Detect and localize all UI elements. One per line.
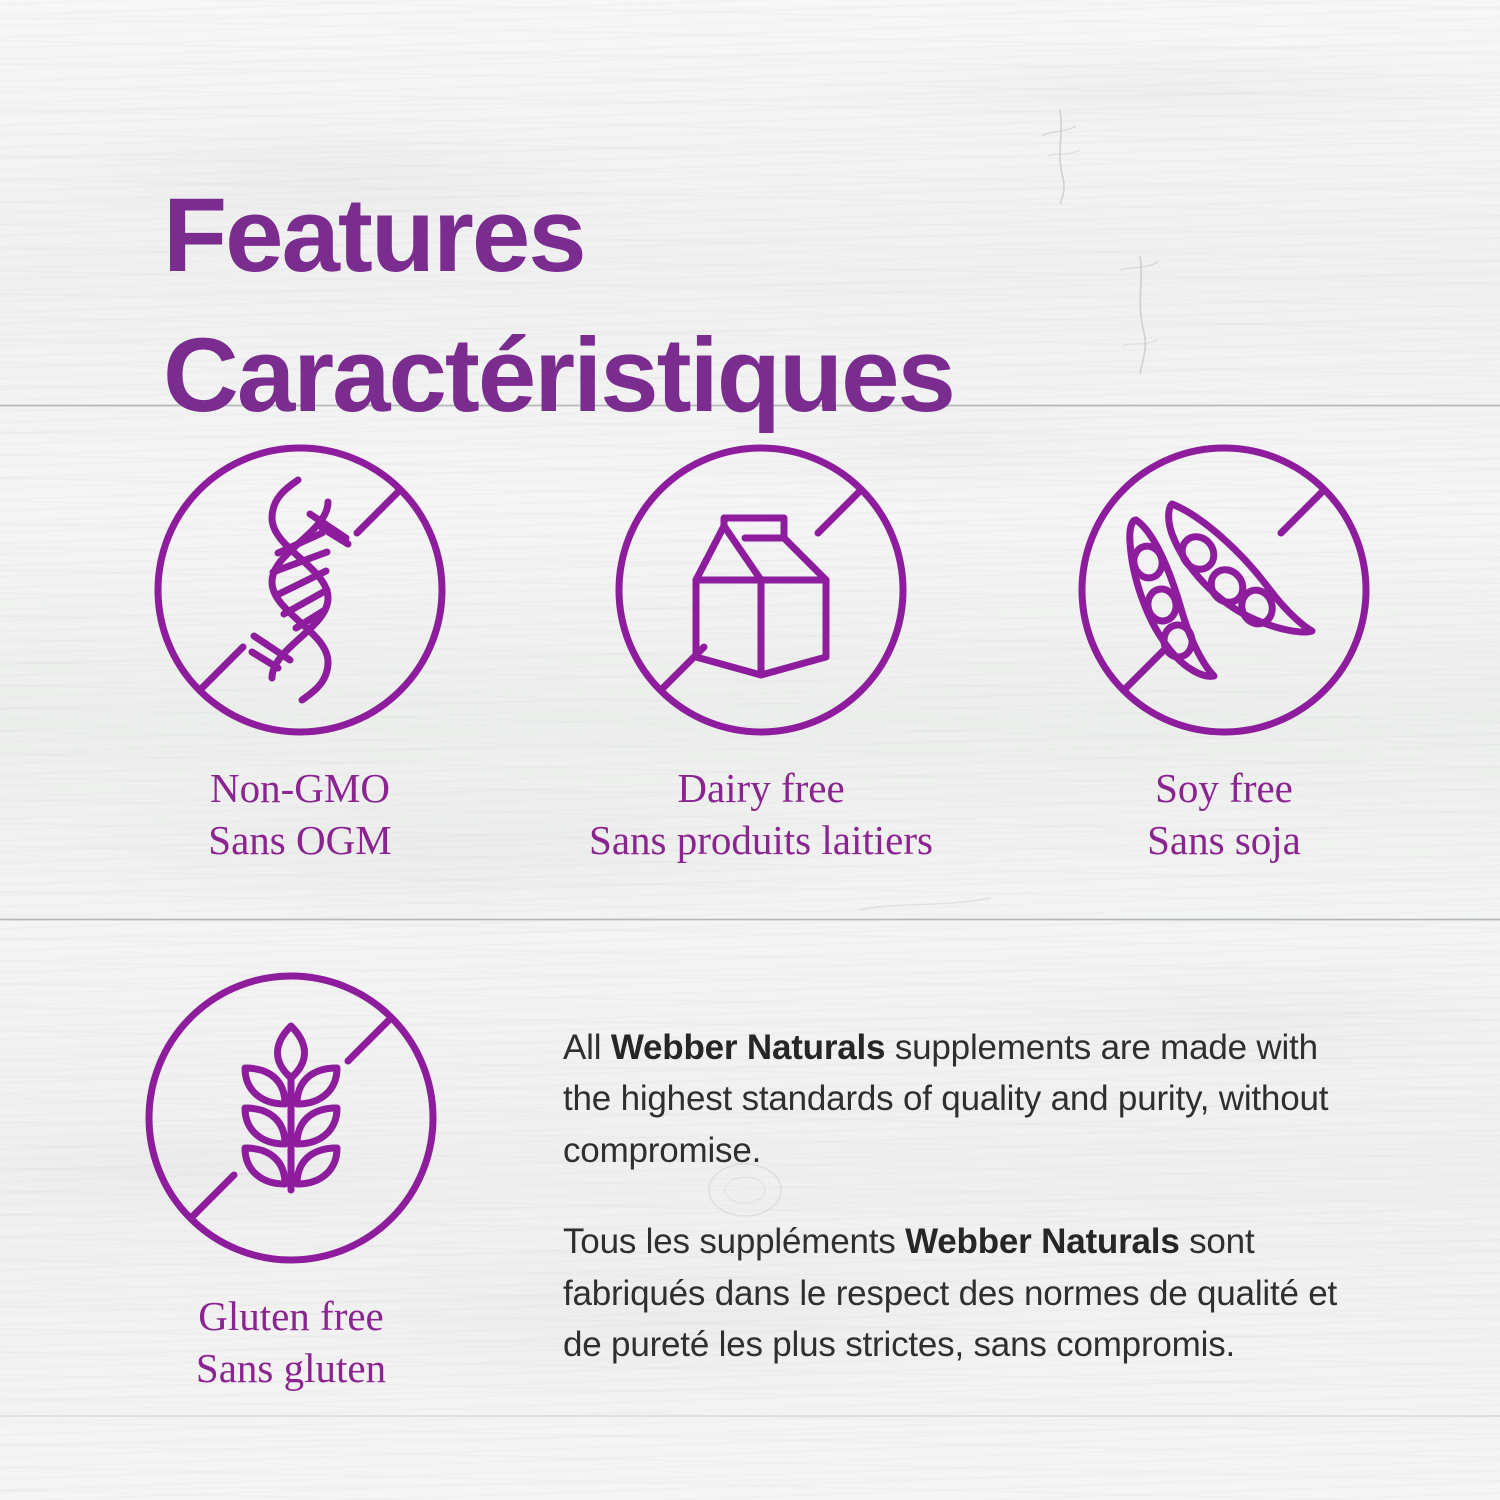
feature-label-gluten-free: Gluten free Sans gluten [35,1290,547,1394]
feature-label-fr: Sans OGM [44,814,556,866]
feature-label-dairy-free: Dairy free Sans produits laitiers [505,762,1017,866]
no-soy-pods-icon [1074,440,1374,740]
feature-label-soy-free: Soy free Sans soja [968,762,1480,866]
feature-label-en: Non-GMO [210,765,390,811]
brand-name-fr: Webber Naturals [905,1222,1180,1261]
brand-statement-en: All Webber Naturals supplements are made… [563,1022,1373,1176]
feature-label-fr: Sans produits laitiers [505,814,1017,866]
features-panel: Features Caractéristiques [0,0,1500,1500]
no-gluten-wheat-icon-wrap [35,968,547,1268]
no-gmo-dna-icon [150,440,450,740]
feature-label-fr: Sans gluten [35,1342,547,1394]
brand-statement-fr: Tous les suppléments Webber Naturals son… [563,1216,1373,1370]
feature-dairy-free: Dairy free Sans produits laitiers [505,440,1017,866]
no-dairy-milk-carton-icon [611,440,911,740]
feature-soy-free: Soy free Sans soja [968,440,1480,866]
no-soy-pods-icon-wrap [968,440,1480,740]
no-dairy-milk-carton-icon-wrap [505,440,1017,740]
feature-gluten-free: Gluten free Sans gluten [35,968,547,1394]
statement-en-prefix: All [563,1028,611,1067]
page-title: Features Caractéristiques [163,166,1363,445]
page-title-line-fr: Caractéristiques [163,306,1363,446]
feature-non-gmo: Non-GMO Sans OGM [44,440,556,866]
brand-statement: All Webber Naturals supplements are made… [563,1022,1373,1371]
statement-fr-prefix: Tous les suppléments [563,1222,905,1261]
feature-label-en: Soy free [1155,765,1293,811]
feature-label-en: Dairy free [677,765,844,811]
feature-label-fr: Sans soja [968,814,1480,866]
feature-label-en: Gluten free [198,1293,384,1339]
brand-name-en: Webber Naturals [611,1028,886,1067]
no-gmo-dna-icon-wrap [44,440,556,740]
feature-label-non-gmo: Non-GMO Sans OGM [44,762,556,866]
no-gluten-wheat-icon [141,968,441,1268]
page-title-line-en: Features [163,166,1363,306]
